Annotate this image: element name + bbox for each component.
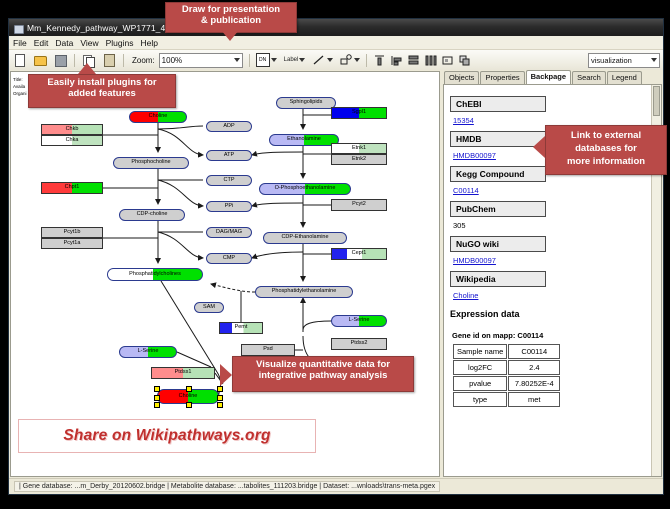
share-callout-text: Share on Wikipathways.org xyxy=(63,427,270,445)
scrollbar-thumb[interactable] xyxy=(653,86,660,116)
shape-tool-icon xyxy=(340,54,352,66)
gene-node-ptdss2[interactable]: Ptdss2 xyxy=(331,338,387,350)
zoom-label: Zoom: xyxy=(132,56,155,65)
gene-node-psd[interactable]: Psd xyxy=(241,344,295,356)
visualization-value: visualization xyxy=(591,56,632,65)
gene-node-pcyt2[interactable]: Pcyt2 xyxy=(331,199,387,211)
gene-node-pcyt1a[interactable]: Pcyt1a xyxy=(41,238,103,249)
selection-handle-0[interactable] xyxy=(154,386,160,392)
selection-handle-2[interactable] xyxy=(217,386,223,392)
draw-callout-line1: Draw for presentation xyxy=(166,4,296,15)
link-callout-line3: more information xyxy=(546,155,666,168)
visualization-combo[interactable]: visualization xyxy=(588,53,660,68)
node-label: Chpt1 xyxy=(65,185,80,191)
metabolite-node-cmp[interactable]: CMP xyxy=(206,253,252,264)
metabolite-node-phosphocholine[interactable]: Phosphocholine xyxy=(113,157,189,169)
visualize-callout-arrow xyxy=(220,364,232,386)
node-label: PPi xyxy=(225,204,234,210)
status-text: | Gene database: ...m_Derby_20120602.bri… xyxy=(14,481,440,492)
gene-id-line: Gene id on mapp: C00114 xyxy=(452,331,651,340)
gene-node-cept1[interactable]: Cept1 xyxy=(331,248,387,260)
title-bar: Mm_Kennedy_pathway_WP1771_45176.gpml xyxy=(9,19,663,36)
link-callout-arrow xyxy=(533,136,545,158)
backpage-link-kegg[interactable]: C00114 xyxy=(453,186,651,195)
node-label: Chkb xyxy=(66,127,79,133)
node-label: O-Phosphoethanolamine xyxy=(275,186,336,192)
chevron-down-icon xyxy=(234,58,240,62)
node-label: SAM xyxy=(203,305,215,311)
label-tool[interactable]: Label xyxy=(284,57,306,63)
gene-node-sgpl1[interactable]: Sgpl1 xyxy=(331,107,387,119)
node-label: ATP xyxy=(224,153,234,159)
new-icon[interactable] xyxy=(12,52,28,68)
menu-item-file[interactable]: File xyxy=(13,38,27,48)
chevron-down-icon[interactable] xyxy=(271,58,277,62)
pathvisio-icon xyxy=(13,23,23,33)
tab-properties[interactable]: Properties xyxy=(480,71,524,84)
node-label: Sgpl1 xyxy=(352,110,366,116)
node-label: CTP xyxy=(224,178,235,184)
gene-node-pcyt1b[interactable]: Pcyt1b xyxy=(41,227,103,238)
metabolite-node-ctp[interactable]: CTP xyxy=(206,175,252,186)
metabolite-node-ethanolamine-top[interactable]: Ethanolamine xyxy=(269,134,339,146)
node-label: Pcyt1a xyxy=(64,241,81,247)
metabolite-node-adp[interactable]: ADP xyxy=(206,121,252,132)
tab-objects[interactable]: Objects xyxy=(444,71,479,84)
backpage-header-nugo: NuGO wiki xyxy=(450,236,546,252)
node-label: DAG/MAG xyxy=(216,230,242,236)
selection-handle-6[interactable] xyxy=(186,402,192,408)
draw-callout-arrow xyxy=(221,30,239,41)
gene-node-pemt[interactable]: Pemt xyxy=(219,322,263,334)
backpage-link-chebi[interactable]: 15354 xyxy=(453,116,651,125)
order-icon[interactable] xyxy=(458,54,471,67)
plugins-callout-line1: Easily install plugins for xyxy=(29,77,175,88)
table-row: log2FC 2.4 xyxy=(453,360,560,375)
node-label: Psd xyxy=(263,347,272,353)
node-label: L-Serine xyxy=(138,349,159,355)
node-label: Choline xyxy=(149,114,168,120)
node-label: ADP xyxy=(223,124,234,130)
node-label: Choline xyxy=(179,394,198,400)
backpage-value-pubchem: 305 xyxy=(453,221,651,230)
expression-data-title: Expression data xyxy=(450,309,651,319)
draw-callout: Draw for presentation & publication xyxy=(165,2,297,33)
gene-node-etnk1[interactable]: Etnk1 xyxy=(331,143,387,154)
metabolite-node-sam[interactable]: SAM xyxy=(194,302,224,313)
share-callout: Share on Wikipathways.org xyxy=(18,419,316,453)
table-cell-key: Sample name xyxy=(453,344,507,359)
metabolite-node-atp[interactable]: ATP xyxy=(206,150,252,161)
visualize-callout-line2: integrative pathway analysis xyxy=(233,370,413,381)
table-row: type met xyxy=(453,392,560,407)
toolbar-separator xyxy=(249,54,250,67)
visualize-callout: Visualize quantitative data for integrat… xyxy=(232,356,414,392)
metabolite-node-cdp-ethanolamine[interactable]: CDP-Ethanolamine xyxy=(263,232,347,244)
zoom-combo[interactable]: 100% xyxy=(159,53,243,68)
selection-handle-7[interactable] xyxy=(217,402,223,408)
table-row: Sample name C00114 xyxy=(453,344,560,359)
toolbar: Zoom: 100% DN Label xyxy=(9,50,663,71)
metabolite-node-dagmag[interactable]: DAG/MAG xyxy=(206,227,252,238)
table-cell-key: pvalue xyxy=(453,376,507,391)
menu-item-plugins[interactable]: Plugins xyxy=(106,38,134,48)
gene-node-chkb[interactable]: Chkb xyxy=(41,124,103,135)
backpage-link-wikipedia[interactable]: Choline xyxy=(453,291,651,300)
plugins-callout-arrow xyxy=(78,63,96,74)
metabolite-node-l-serine-left[interactable]: L-Serine xyxy=(119,346,177,358)
tab-legend[interactable]: Legend xyxy=(607,71,642,84)
menu-bar: File Edit Data View Plugins Help xyxy=(9,36,663,50)
gene-node-chka[interactable]: Chka xyxy=(41,135,103,146)
metabolite-node-sphingolipids[interactable]: Sphingolipids xyxy=(276,97,336,109)
toolbar-separator xyxy=(123,54,124,67)
menu-item-data[interactable]: Data xyxy=(55,38,73,48)
node-label: Ethanolamine xyxy=(287,137,321,143)
backpage-header-hmdb: HMDB xyxy=(450,131,546,147)
node-label: Phosphatidylcholines xyxy=(129,272,181,278)
open-icon[interactable] xyxy=(32,52,48,68)
menu-item-help[interactable]: Help xyxy=(141,38,158,48)
node-label: CMP xyxy=(223,256,235,262)
menu-item-edit[interactable]: Edit xyxy=(34,38,49,48)
paste-icon[interactable] xyxy=(101,52,117,68)
metabolite-node-o-phosphoethanolamine[interactable]: O-Phosphoethanolamine xyxy=(259,183,351,195)
toolbar-separator xyxy=(74,54,75,67)
pathway-canvas[interactable]: Title: Availa Organi xyxy=(10,71,440,477)
draw-callout-line2: & publication xyxy=(166,15,296,26)
gene-node-chpt1[interactable]: Chpt1 xyxy=(41,182,103,194)
node-label: Phosphatidylethanolamine xyxy=(272,289,337,295)
metabolite-node-ppi[interactable]: PPi xyxy=(206,201,252,212)
line-tool[interactable] xyxy=(313,54,333,66)
node-label: CDP-Ethanolamine xyxy=(281,235,328,241)
node-label: Phosphocholine xyxy=(131,160,170,166)
chevron-down-icon[interactable] xyxy=(299,58,305,62)
chevron-down-icon xyxy=(651,58,657,62)
datanode-tool[interactable]: DN xyxy=(256,53,277,67)
tab-backpage[interactable]: Backpage xyxy=(526,70,571,84)
table-cell-key: log2FC xyxy=(453,360,507,375)
table-cell-value: 2.4 xyxy=(508,360,560,375)
status-bar: | Gene database: ...m_Derby_20120602.bri… xyxy=(9,478,663,494)
table-cell-value: 7.80252E-4 xyxy=(508,376,560,391)
chevron-down-icon[interactable] xyxy=(354,58,360,62)
gene-node-ptdss1[interactable]: Ptdss1 xyxy=(151,367,215,379)
tab-search[interactable]: Search xyxy=(572,71,606,84)
selection-handle-4[interactable] xyxy=(217,395,223,401)
node-label: Pemt xyxy=(235,325,248,331)
align-left-icon[interactable] xyxy=(390,54,403,67)
gene-node-etnk2[interactable]: Etnk2 xyxy=(331,154,387,165)
datanode-icon: DN xyxy=(256,53,270,67)
node-label: Sphingolipids xyxy=(290,100,323,106)
distribute-icon[interactable] xyxy=(424,54,437,67)
table-cell-value: met xyxy=(508,392,560,407)
toolbar-separator xyxy=(366,54,367,67)
node-label: Etnk1 xyxy=(352,146,366,152)
plugins-callout: Easily install plugins for added feature… xyxy=(28,74,176,108)
node-label: Pcyt2 xyxy=(352,202,366,208)
visualize-callout-line1: Visualize quantitative data for xyxy=(233,359,413,370)
align-stack-icon[interactable] xyxy=(407,54,420,67)
side-panel-tabs: Objects Properties Backpage Search Legen… xyxy=(441,71,662,84)
pathway-drawing[interactable]: Title: Availa Organi xyxy=(11,72,439,476)
node-label: L-Serine xyxy=(349,318,370,324)
plugins-callout-line2: added features xyxy=(29,88,175,99)
backpage-link-nugo[interactable]: HMDB00097 xyxy=(453,256,651,265)
zoom-value: 100% xyxy=(162,56,182,65)
link-callout: Link to external databases for more info… xyxy=(545,125,667,175)
table-cell-value: C00114 xyxy=(508,344,560,359)
metabolite-node-choline-top[interactable]: Choline xyxy=(129,111,187,123)
backpage-header-pubchem: PubChem xyxy=(450,201,546,217)
metabolite-node-phosphatidylcholine[interactable]: Phosphatidylcholines xyxy=(107,268,203,281)
selection-handle-1[interactable] xyxy=(186,386,192,392)
shape-tool[interactable] xyxy=(340,54,360,66)
selection-handle-5[interactable] xyxy=(154,402,160,408)
save-icon[interactable] xyxy=(52,52,68,68)
link-callout-line2: databases for xyxy=(546,142,666,155)
line-tool-icon xyxy=(313,54,325,66)
menu-item-view[interactable]: View xyxy=(80,38,98,48)
metabolite-node-phosphatidylethanolamine[interactable]: Phosphatidylethanolamine xyxy=(255,286,353,298)
node-label: Cept1 xyxy=(352,251,367,257)
backpage-header-wikipedia: Wikipedia xyxy=(450,271,546,287)
node-label: Ptdss2 xyxy=(351,341,368,347)
label-tool-text: Label xyxy=(284,57,299,63)
node-label: Chka xyxy=(66,138,79,144)
group-icon[interactable] xyxy=(441,54,454,67)
node-label: Ptdss1 xyxy=(175,370,192,376)
table-row: pvalue 7.80252E-4 xyxy=(453,376,560,391)
expression-table: Sample name C00114 log2FC 2.4 pvalue 7.8… xyxy=(452,343,561,408)
selection-handle-3[interactable] xyxy=(154,395,160,401)
link-callout-line1: Link to external xyxy=(546,129,666,142)
backpage-header-chebi: ChEBI xyxy=(450,96,546,112)
table-cell-key: type xyxy=(453,392,507,407)
backpage-header-kegg: Kegg Compound xyxy=(450,166,546,182)
node-label: CDP-choline xyxy=(137,212,168,218)
chevron-down-icon[interactable] xyxy=(327,58,333,62)
node-label: Etnk2 xyxy=(352,157,366,163)
metabolite-node-cdp-choline[interactable]: CDP-choline xyxy=(119,209,185,221)
screenshot-root: Mm_Kennedy_pathway_WP1771_45176.gpml Fil… xyxy=(0,0,670,509)
node-label: Pcyt1b xyxy=(64,230,81,236)
align-top-icon[interactable] xyxy=(373,54,386,67)
metabolite-node-l-serine-right[interactable]: L-Serine xyxy=(331,315,387,327)
